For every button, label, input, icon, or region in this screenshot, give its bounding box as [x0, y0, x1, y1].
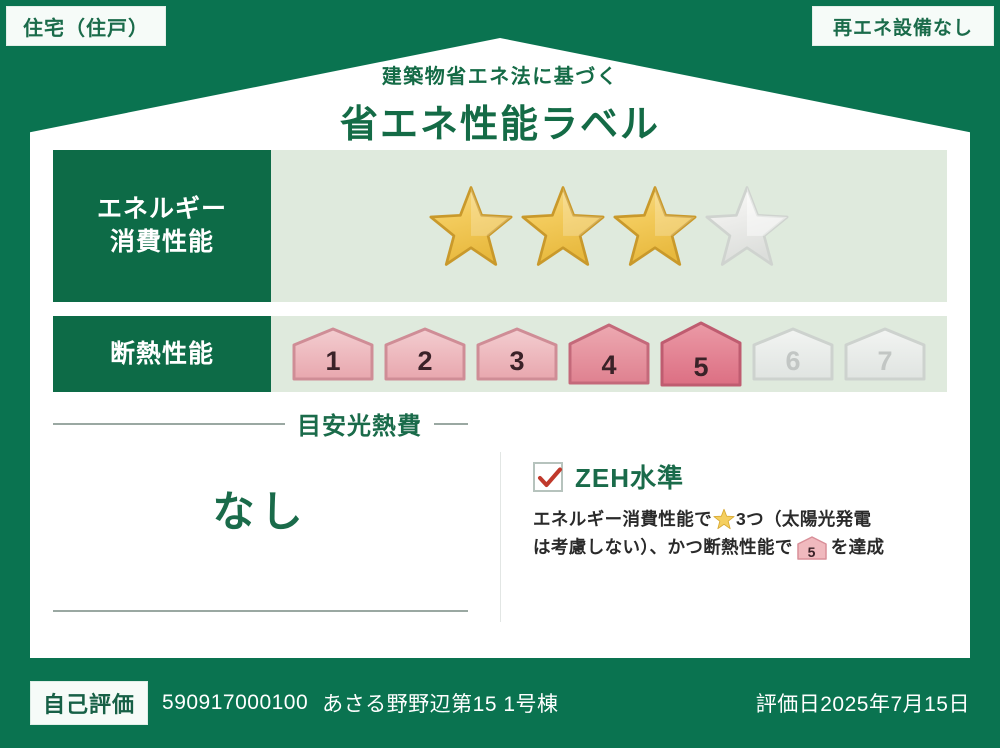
zeh-checkbox[interactable] — [533, 462, 563, 492]
building-type-badge: 住宅（住戸） — [6, 6, 166, 46]
zeh-desc-2a: は考慮しない）、かつ断熱性能で — [533, 533, 793, 561]
star-filled-icon — [520, 185, 606, 267]
evaluation-date: 評価日2025年7月15日 — [756, 688, 970, 718]
zeh-title: ZEH水準 — [575, 458, 684, 495]
title-main: 省エネ性能ラベル — [0, 93, 1000, 148]
page-title: 建築物省エネ法に基づく 省エネ性能ラベル — [0, 60, 1000, 148]
energy-performance-row: エネルギー 消費性能 — [53, 150, 947, 302]
insulation-level-3: 3 — [475, 327, 559, 381]
renewable-energy-badge: 再エネ設備なし — [812, 6, 994, 46]
insulation-level-number: 7 — [843, 348, 927, 375]
energy-label-line2: 消費性能 — [110, 226, 214, 259]
evaluation-type-badge: 自己評価 — [30, 681, 148, 725]
insulation-level-number: 6 — [751, 348, 835, 375]
zeh-desc-1b: 3つ（太陽光発電 — [736, 505, 871, 533]
house-level-number: 5 — [797, 545, 827, 559]
insulation-level-7: 7 — [843, 327, 927, 381]
star-empty-icon — [704, 185, 790, 267]
energy-performance-label: 住宅（住戸） 再エネ設備なし 建築物省エネ法に基づく 省エネ性能ラベル エネルギ… — [0, 0, 1000, 748]
zeh-description-line-1: エネルギー消費性能で 3つ（太陽光発電 — [533, 505, 943, 533]
insulation-level-2: 2 — [383, 327, 467, 381]
insulation-level-1: 1 — [291, 327, 375, 381]
energy-performance-label: エネルギー 消費性能 — [53, 150, 271, 302]
insulation-levels-panel: 1234567 — [271, 316, 947, 392]
energy-label-line1: エネルギー — [97, 193, 227, 226]
footer-bar: 自己評価 590917000100 あさる野野辺第15 1号棟 評価日2025年… — [0, 658, 1000, 748]
insulation-level-number: 3 — [475, 348, 559, 375]
insulation-level-4: 4 — [567, 323, 651, 385]
section-divider — [500, 452, 501, 622]
insulation-performance-label: 断熱性能 — [53, 316, 271, 392]
zeh-block: ZEH水準 エネルギー消費性能で 3つ（太陽光発電 は考慮しない）、かつ断熱性能… — [533, 458, 943, 562]
insulation-label-text: 断熱性能 — [110, 338, 214, 371]
cost-value: なし — [53, 478, 468, 539]
insulation-level-5: 5 — [659, 321, 743, 387]
cost-heading-rule-right — [434, 423, 468, 425]
title-subtitle: 建築物省エネ法に基づく — [0, 60, 1000, 89]
cost-bottom-rule — [53, 610, 468, 612]
cost-heading-text: 目安光熱費 — [297, 406, 422, 441]
insulation-level-number: 2 — [383, 348, 467, 375]
insulation-level-6: 6 — [751, 327, 835, 381]
label-id: 590917000100 — [162, 691, 308, 715]
insulation-level-number: 1 — [291, 348, 375, 375]
cost-heading-rule-left — [53, 423, 285, 425]
insulation-level-number: 4 — [567, 352, 651, 379]
house-level-icon: 5 — [797, 536, 827, 560]
cost-heading: 目安光熱費 — [53, 406, 468, 441]
zeh-desc-1a: エネルギー消費性能で — [533, 505, 712, 533]
footer-left-group: 自己評価 590917000100 あさる野野辺第15 1号棟 — [30, 681, 756, 725]
star-icon — [713, 508, 735, 530]
star-filled-icon — [428, 185, 514, 267]
zeh-description-line-2: は考慮しない）、かつ断熱性能で 5 を達成 — [533, 533, 943, 561]
zeh-title-row: ZEH水準 — [533, 458, 943, 495]
insulation-performance-row: 断熱性能 1234567 — [53, 316, 947, 392]
zeh-desc-2b: を達成 — [831, 533, 885, 561]
star-filled-icon — [612, 185, 698, 267]
insulation-level-number: 5 — [659, 354, 743, 381]
energy-stars-panel — [271, 150, 947, 302]
property-name: あさる野野辺第15 1号棟 — [322, 688, 558, 718]
